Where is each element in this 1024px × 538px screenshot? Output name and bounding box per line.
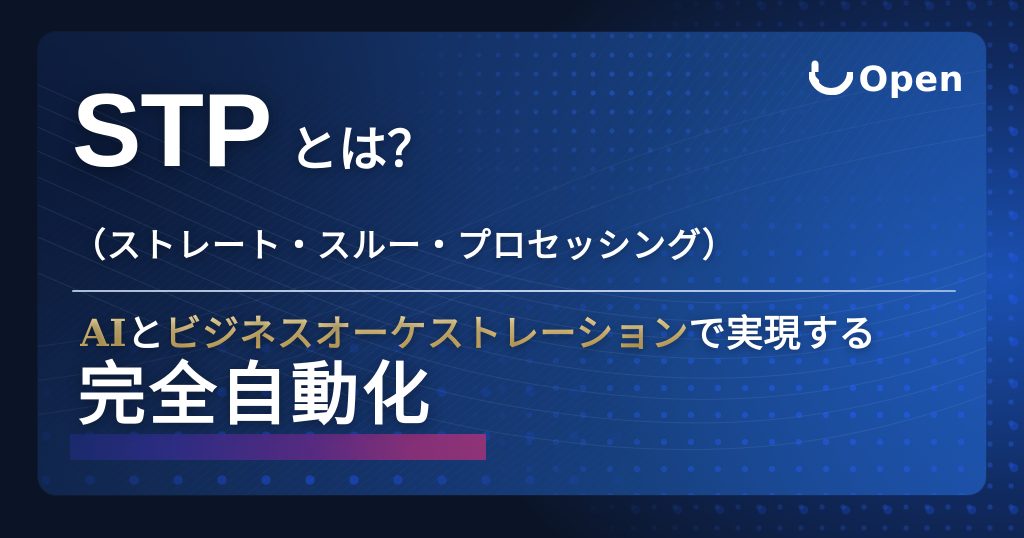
logo-wordmark: Open — [859, 63, 964, 98]
lead-segment-to: と — [127, 311, 165, 355]
logo-word-o: O — [859, 60, 889, 100]
lead-segment-ai: AI — [80, 311, 127, 355]
headline-row: 完全自動化 — [78, 362, 433, 462]
logo-word-rest: pen — [889, 60, 964, 100]
arc-u-icon — [809, 60, 853, 100]
acronym-expansion: （ストレート・スルー・プロセッシング） — [72, 218, 737, 267]
title-row: STP とは？ — [72, 82, 436, 181]
page-title-acronym: STP — [72, 82, 271, 181]
headline-highlight-bar — [70, 434, 486, 460]
headline: 完全自動化 — [78, 362, 433, 430]
lead-segment-realize: で実現する — [689, 311, 877, 355]
lead-segment-orchestration: ビジネスオーケストレーション — [165, 311, 689, 355]
page-title-suffix: とは？ — [289, 125, 436, 174]
open-logo[interactable]: Open — [809, 60, 964, 100]
lead-line: AIとビジネスオーケストレーションで実現する — [80, 312, 876, 355]
hero-banner: Open STP とは？ （ストレート・スルー・プロセッシング） AIとビジネス… — [0, 0, 1024, 538]
divider-rule — [72, 290, 956, 292]
